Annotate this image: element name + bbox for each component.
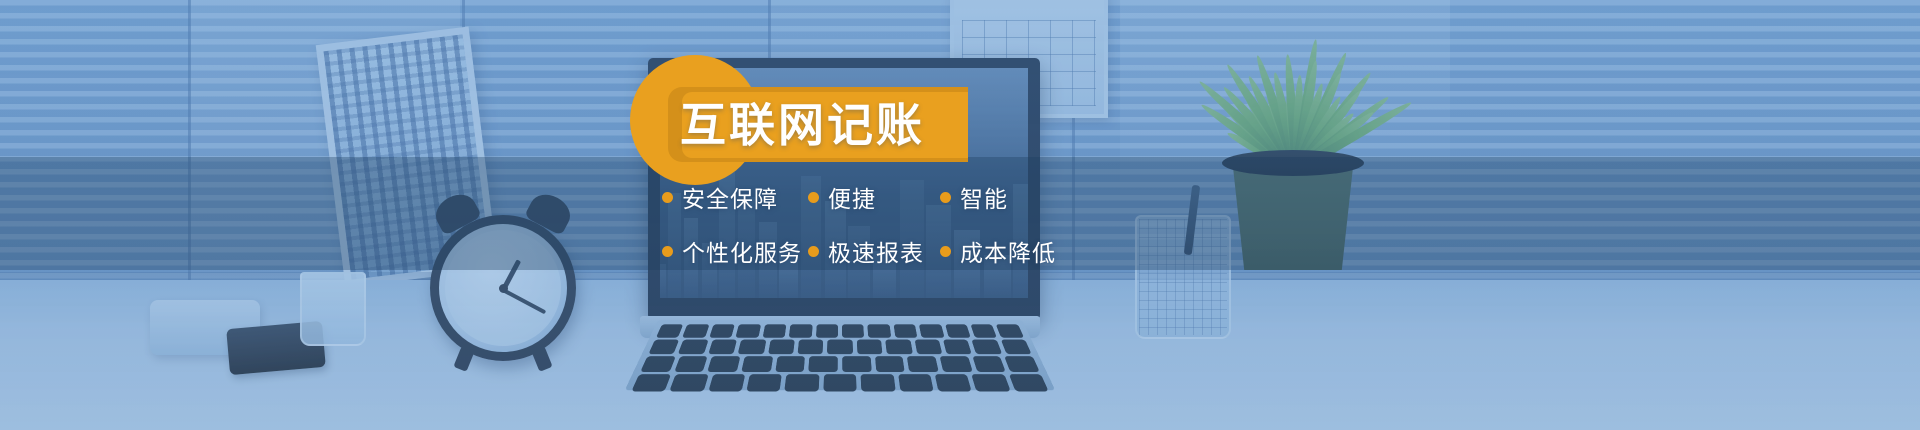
bullet-dot-icon <box>662 192 673 203</box>
feature-label: 智能 <box>960 180 1008 214</box>
feature-label: 便捷 <box>828 180 876 214</box>
bullet-dot-icon <box>662 246 673 257</box>
feature-item: 便捷 <box>808 180 940 214</box>
bullet-dot-icon <box>940 192 951 203</box>
feature-item: 成本降低 <box>940 234 1056 268</box>
feature-item: 个性化服务 <box>662 234 808 268</box>
bullet-dot-icon <box>808 246 819 257</box>
feature-label: 极速报表 <box>828 234 924 268</box>
feature-label: 安全保障 <box>682 180 778 214</box>
feature-row: 安全保障 便捷 智能 <box>662 180 1082 214</box>
feature-list: 安全保障 便捷 智能 个性化服务 极速报表 <box>662 180 1082 288</box>
feature-label: 个性化服务 <box>682 234 802 268</box>
feature-item: 智能 <box>940 180 1008 214</box>
page-title: 互联网记账 <box>680 92 925 158</box>
feature-row: 个性化服务 极速报表 成本降低 <box>662 234 1082 268</box>
feature-item: 极速报表 <box>808 234 940 268</box>
bullet-dot-icon <box>940 246 951 257</box>
bullet-dot-icon <box>808 192 819 203</box>
promo-banner: 互联网记账 安全保障 便捷 智能 个性化服务 <box>0 0 1920 430</box>
feature-label: 成本降低 <box>960 234 1056 268</box>
feature-item: 安全保障 <box>662 180 808 214</box>
banner-content: 互联网记账 安全保障 便捷 智能 个性化服务 <box>0 0 1920 430</box>
